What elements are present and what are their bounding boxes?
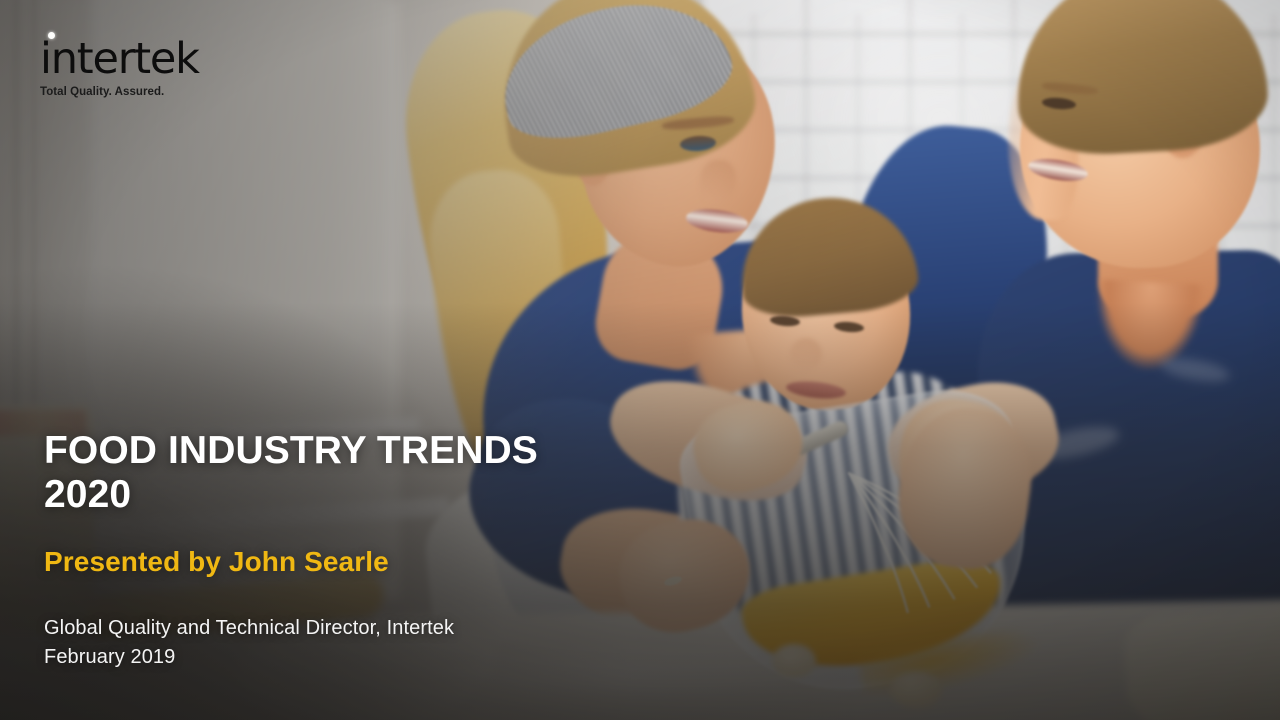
slide-title: FOOD INDUSTRY TRENDS 2020 xyxy=(44,429,684,518)
presenter-role: Global Quality and Technical Director, I… xyxy=(44,614,684,643)
presentation-date: February 2019 xyxy=(44,643,684,672)
title-text-block: FOOD INDUSTRY TRENDS 2020 Presented by J… xyxy=(44,429,684,672)
presenter-line: Presented by John Searle xyxy=(44,546,684,578)
logo-i-dot-icon xyxy=(48,32,55,39)
logo-tagline: Total Quality. Assured. xyxy=(40,86,199,98)
intertek-logo[interactable]: intertek Total Quality. Assured. xyxy=(40,38,199,98)
logo-wordmark: intertek xyxy=(40,38,199,81)
title-slide: intertek Total Quality. Assured. FOOD IN… xyxy=(0,0,1280,720)
